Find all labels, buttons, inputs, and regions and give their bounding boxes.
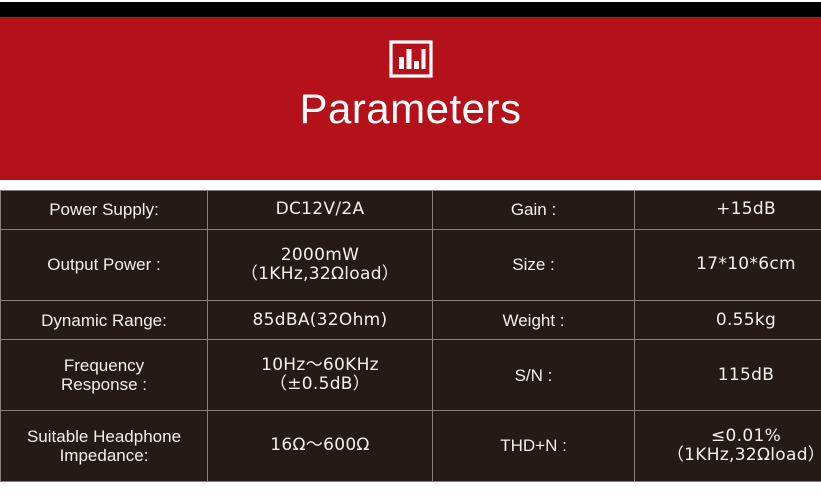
spec-label-power-supply: Power Supply: [1,191,208,230]
spec-value-line2: （±0.5dB） [212,375,428,395]
spec-value-thd-n: ≤0.01% （1KHz,32Ωload） [635,411,821,482]
spec-label-size: Size : [433,230,635,301]
banner-header: Parameters [0,17,821,180]
specifications-table: Power Supply: DC12V/2A Gain : +15dB Outp… [0,190,821,482]
spec-label-line1: Suitable Headphone [27,427,181,446]
spec-value-line1: 10Hz～60KHz [261,355,379,375]
parameters-spec-sheet: Parameters Power Supply: DC12V/2A Gain :… [0,0,821,500]
spec-label-line2: Response : [5,375,203,395]
spec-value-output-power: 2000mW （1KHz,32Ωload） [208,230,433,301]
spec-value-power-supply: DC12V/2A [208,191,433,230]
spec-label-headphone-impedance: Suitable Headphone Impedance: [1,411,208,482]
spec-label-line1: Frequency [64,356,144,375]
spec-value-frequency-response: 10Hz～60KHz （±0.5dB） [208,340,433,411]
spec-label-dynamic-range: Dynamic Range: [1,301,208,340]
spec-value-line2: （1KHz,32Ωload） [212,265,428,285]
spec-value-headphone-impedance: 16Ω～600Ω [208,411,433,482]
bar-chart-icon [389,40,433,78]
spec-label-snr: S/N : [433,340,635,411]
page-title: Parameters [299,88,521,130]
spec-label-frequency-response: Frequency Response : [1,340,208,411]
spec-value-snr: 115dB [635,340,821,411]
table-row: Frequency Response : 10Hz～60KHz （±0.5dB）… [1,340,821,411]
spec-value-size: 17*10*6cm [635,230,821,301]
spec-value-line2: （1KHz,32Ωload） [639,446,821,466]
table-row: Power Supply: DC12V/2A Gain : +15dB [1,191,821,230]
top-black-bar [0,2,821,17]
spec-label-line2: Impedance: [5,446,203,466]
table-row: Dynamic Range: 85dBA(32Ohm) Weight : 0.5… [1,301,821,340]
spec-label-output-power: Output Power : [1,230,208,301]
spec-label-weight: Weight : [433,301,635,340]
spec-value-line1: 2000mW [281,245,359,265]
spec-value-gain: +15dB [635,191,821,230]
spec-value-dynamic-range: 85dBA(32Ohm) [208,301,433,340]
spec-value-weight: 0.55kg [635,301,821,340]
spec-label-gain: Gain : [433,191,635,230]
table-row: Suitable Headphone Impedance: 16Ω～600Ω T… [1,411,821,482]
table-row: Output Power : 2000mW （1KHz,32Ωload） Siz… [1,230,821,301]
spec-value-line1: ≤0.01% [711,426,781,446]
spec-label-thd-n: THD+N : [433,411,635,482]
